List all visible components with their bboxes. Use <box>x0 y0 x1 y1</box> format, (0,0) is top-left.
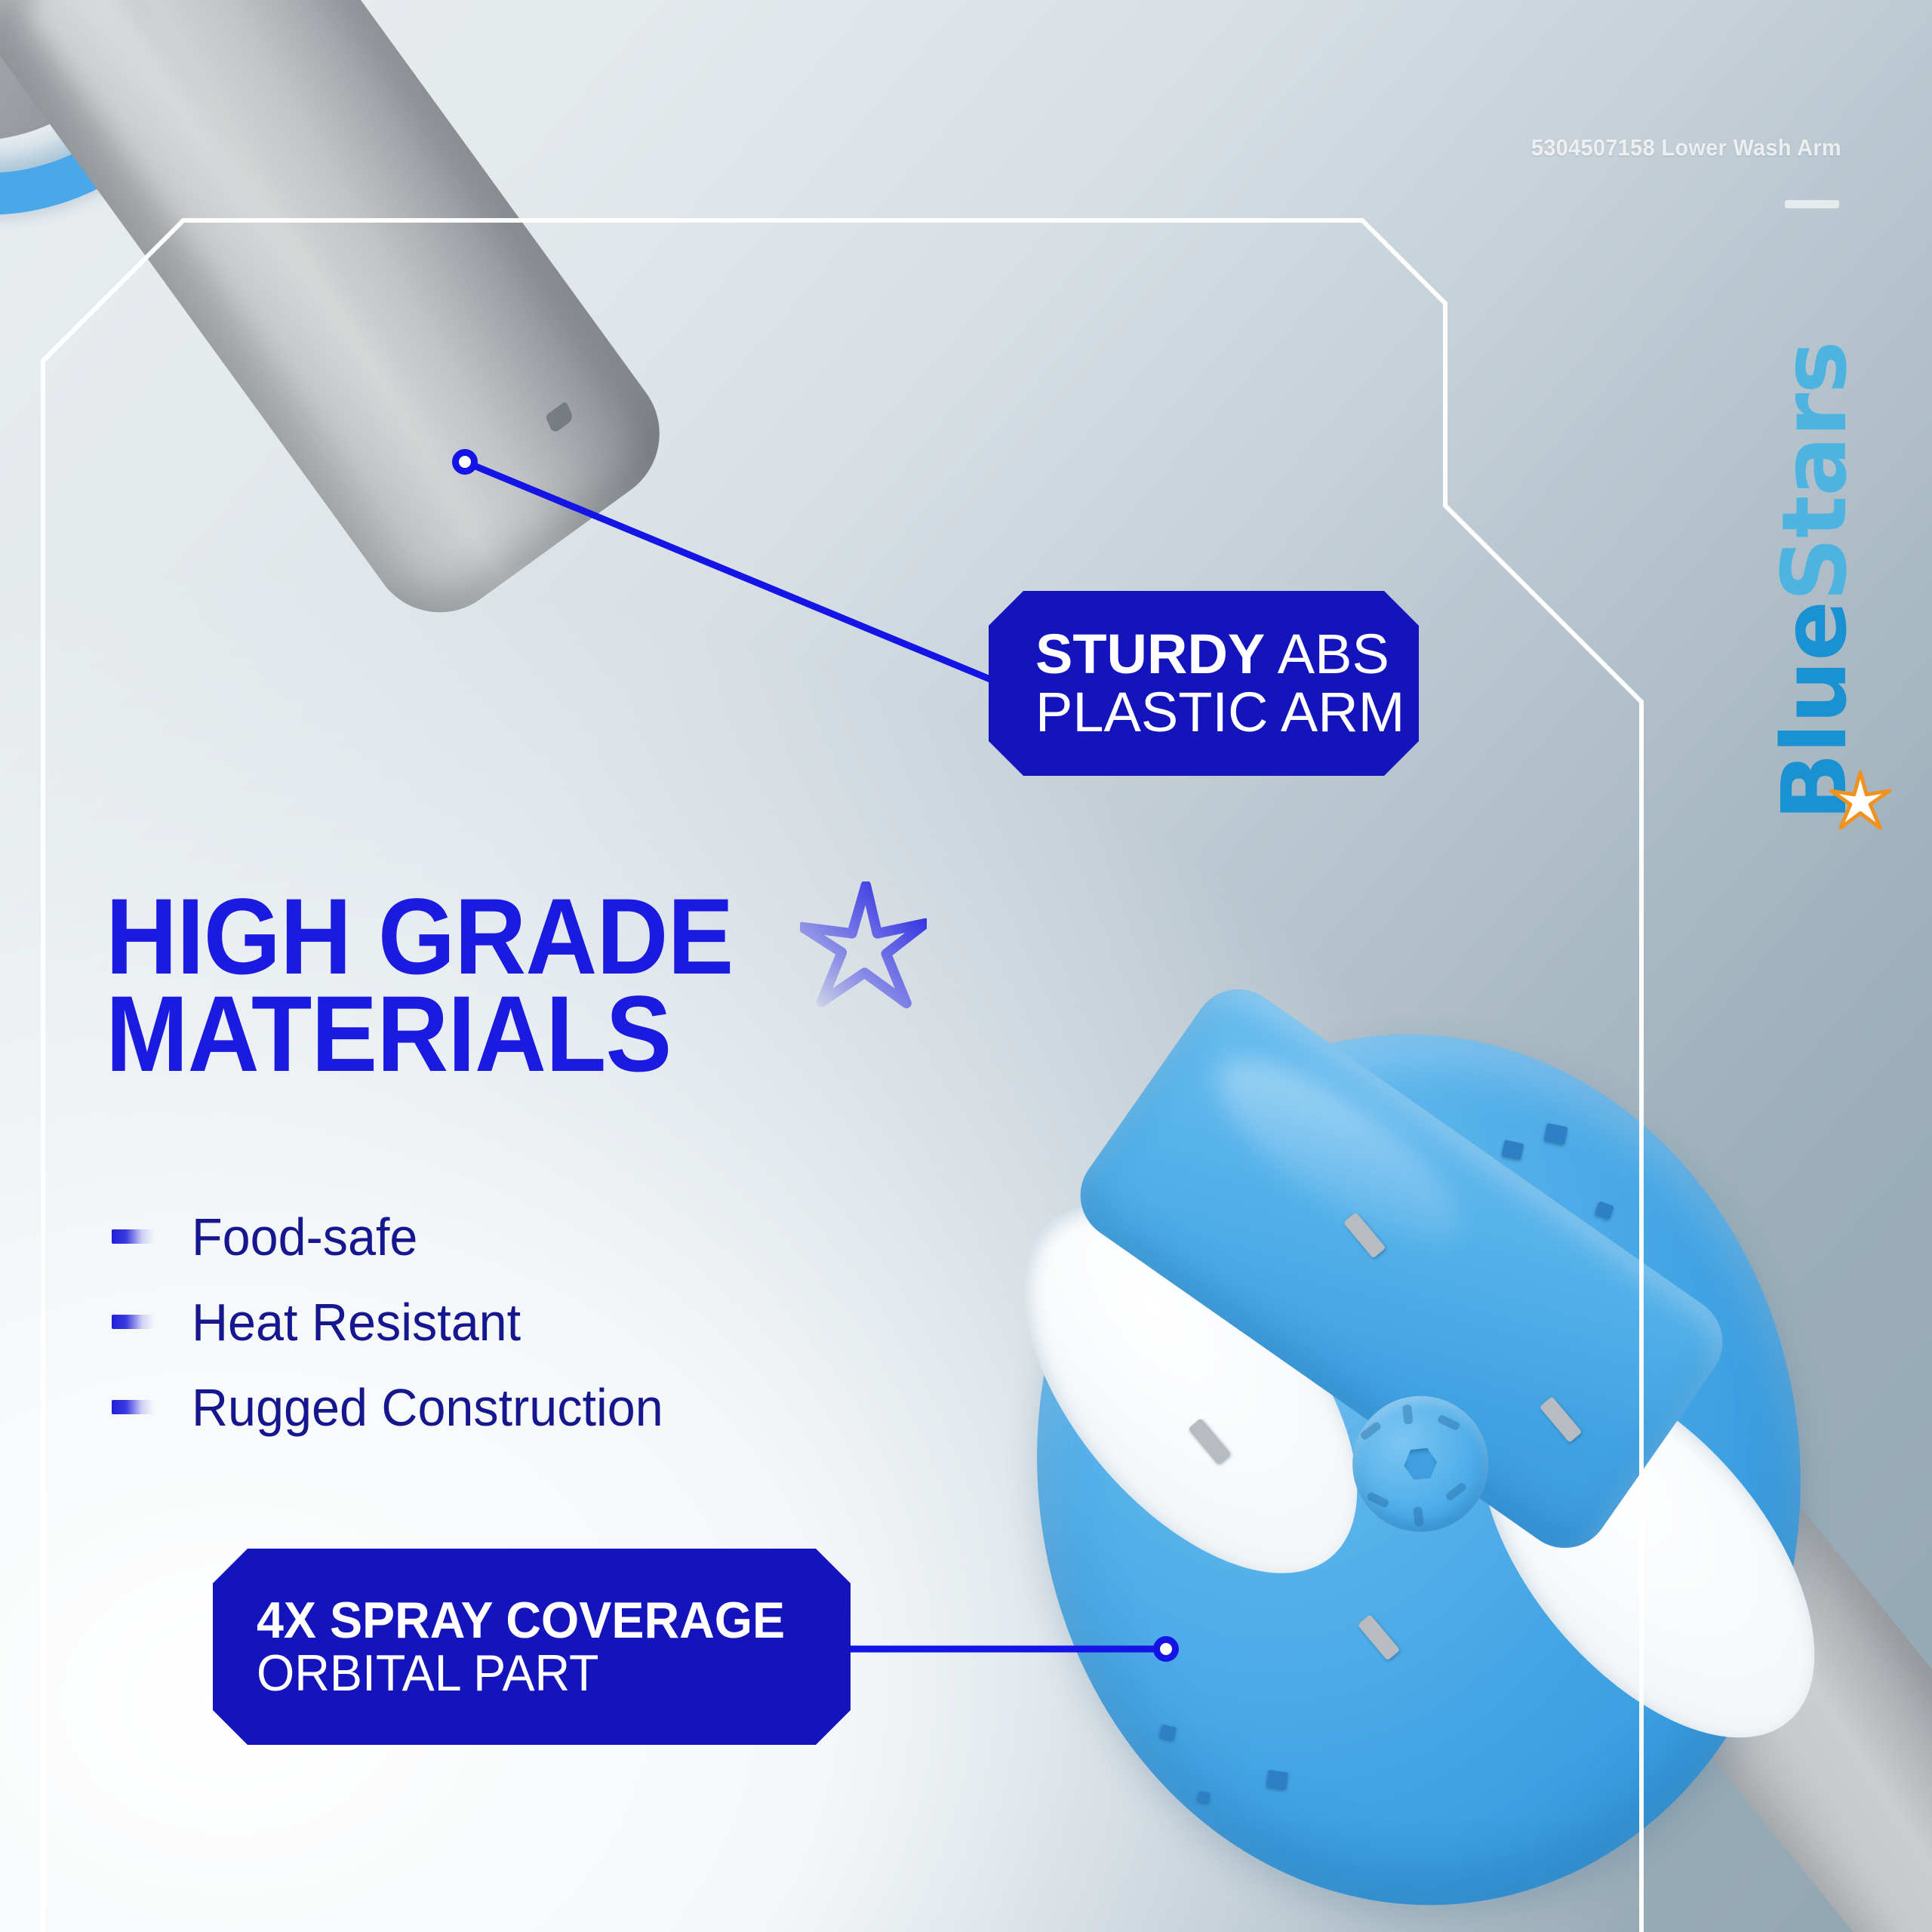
bullet-dash-icon <box>112 1315 154 1329</box>
feature-list: Food-safe Heat Resistant Rugged Construc… <box>112 1194 688 1450</box>
callout-anchor-dot-arm <box>452 449 478 475</box>
hub-slot <box>1402 1404 1414 1425</box>
callout-sturdy-line-1: STURDY ABS <box>1035 626 1372 683</box>
hub-slot <box>1413 1506 1424 1527</box>
callout-spray-line-1: 4X SPRAY COVERAGE <box>257 1594 780 1647</box>
gray-wash-arm-tube-top <box>0 0 687 640</box>
bluestars-logo: BlueStars <box>1739 317 1890 845</box>
callout-sturdy-light: ABS <box>1265 623 1389 685</box>
list-item: Heat Resistant <box>112 1279 688 1364</box>
product-feature-graphic: 5304507158 Lower Wash Arm BlueStars HIGH… <box>0 0 1932 1932</box>
callout-anchor-dot-disc <box>1153 1636 1179 1662</box>
feature-label: Heat Resistant <box>192 1292 521 1352</box>
feature-label: Food-safe <box>192 1207 417 1267</box>
blue-spray-arm-disc <box>994 996 1843 1932</box>
bluestars-wordmark: BlueStars <box>1762 342 1866 821</box>
spray-jet-nozzle <box>1197 1791 1211 1803</box>
callout-badge-spray-coverage[interactable]: 4X SPRAY COVERAGE ORBITAL PART <box>213 1549 851 1745</box>
callout-sturdy-line-2: PLASTIC ARM <box>1035 684 1372 741</box>
spray-jet-nozzle <box>1266 1770 1288 1790</box>
part-number-label: 5304507158 Lower Wash Arm <box>1531 134 1841 162</box>
logo-word-stars: Stars <box>1762 342 1866 601</box>
hub-slot <box>1437 1414 1461 1431</box>
headline-line-1: HIGH GRADE <box>106 889 904 986</box>
part-number-underline-dash <box>1785 200 1839 208</box>
bullet-dash-icon <box>112 1400 154 1414</box>
callout-spray-line-2: ORBITAL PART <box>257 1647 780 1700</box>
feature-label: Rugged Construction <box>192 1377 663 1438</box>
logo-sparkle-star-icon <box>1829 770 1891 832</box>
bullet-dash-icon <box>112 1229 154 1244</box>
hub-slot <box>1366 1491 1390 1509</box>
headline-line-2: MATERIALS <box>106 986 904 1084</box>
callout-sturdy-strong: STURDY <box>1035 623 1265 685</box>
list-item: Rugged Construction <box>112 1364 688 1450</box>
list-item: Food-safe <box>112 1194 688 1279</box>
hub-slot <box>1444 1481 1467 1502</box>
headline-sparkle-star-icon <box>800 881 927 1008</box>
callout-badge-sturdy-abs[interactable]: STURDY ABS PLASTIC ARM <box>989 591 1419 776</box>
arm-nozzle-opening <box>546 401 574 434</box>
page-title: HIGH GRADE MATERIALS <box>106 889 904 1083</box>
